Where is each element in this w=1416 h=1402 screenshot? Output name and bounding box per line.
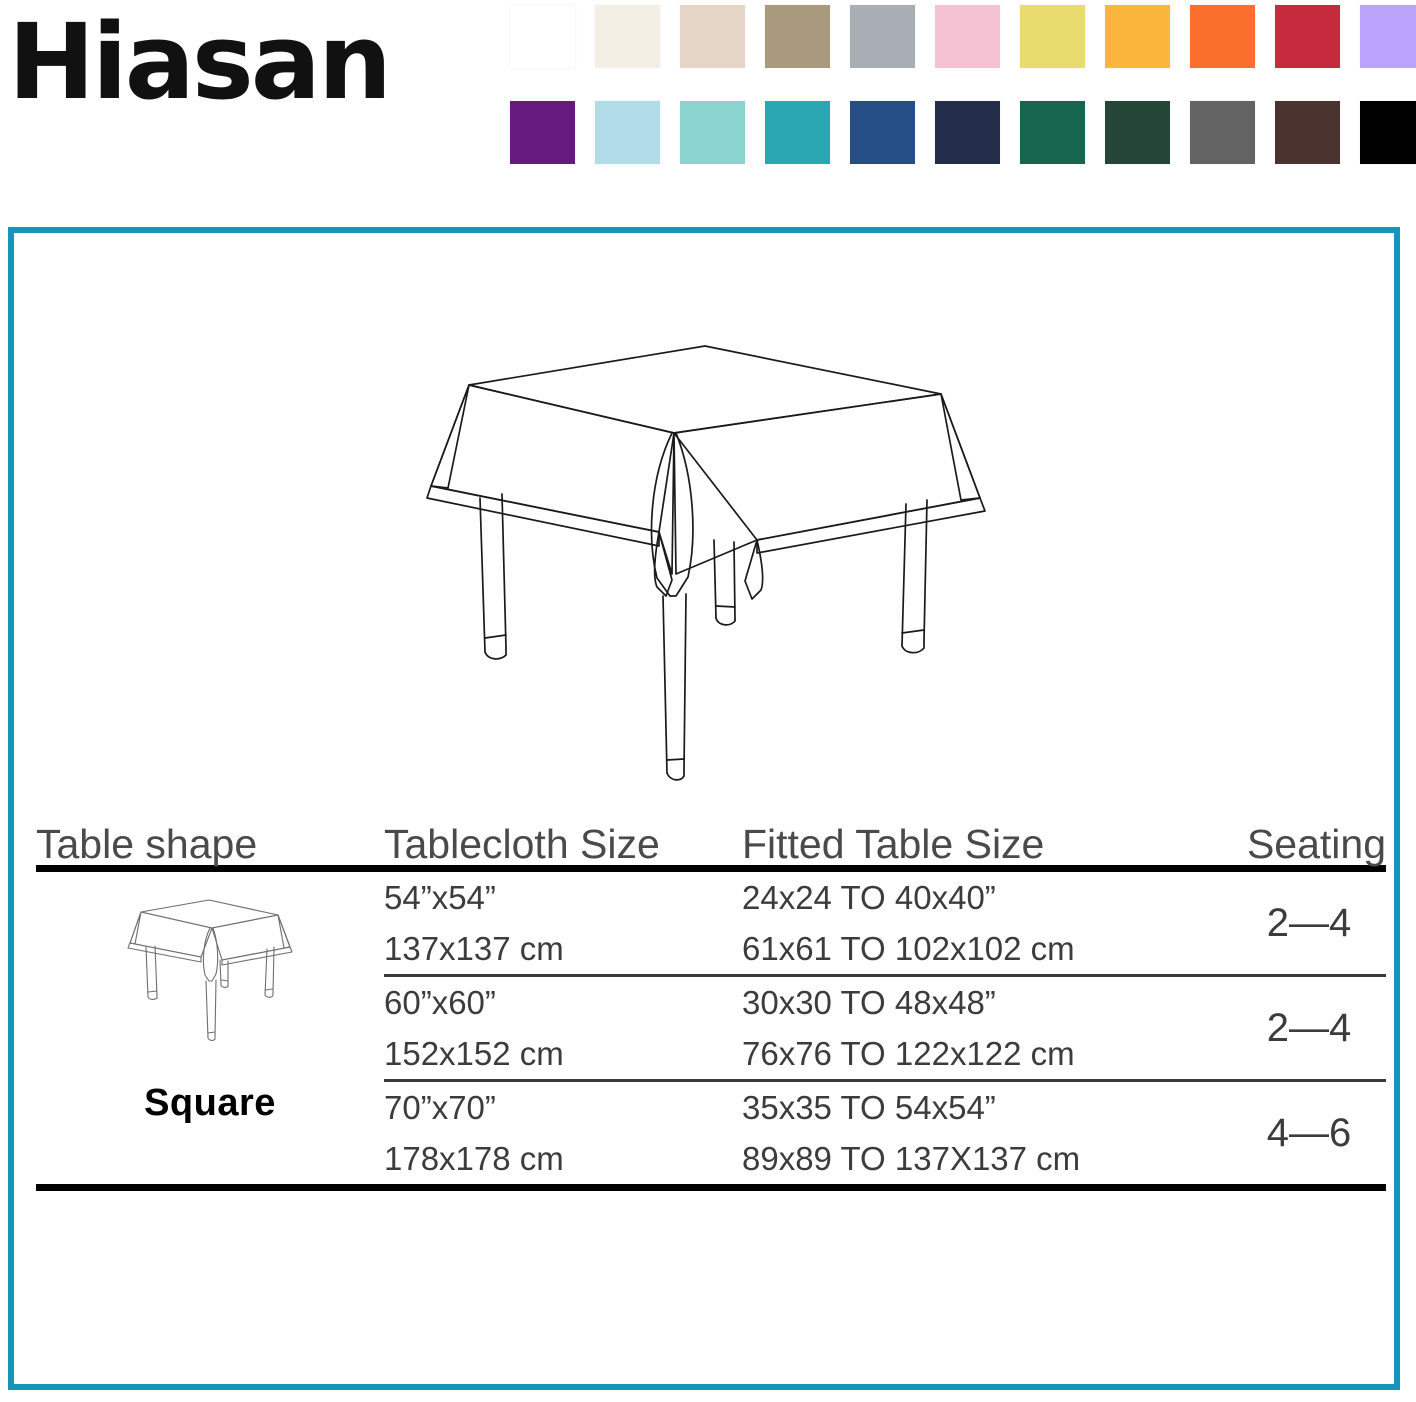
color-swatch-navy[interactable] [935,101,1000,164]
color-swatch-taupe[interactable] [765,5,830,68]
table-row: 54”x54”137x137 cm24x24 TO 40x40”61x61 TO… [384,872,1386,974]
color-swatch-teal[interactable] [765,101,830,164]
color-swatch-charcoal[interactable] [1190,101,1255,164]
table-bottom-rule [36,1184,1386,1191]
color-swatch-black[interactable] [1360,101,1416,164]
cell-fitted-table-size-line-1: 24x24 TO 40x40” [742,872,1232,923]
cell-fitted-table-size-line-2: 89x89 TO 137X137 cm [742,1133,1232,1184]
color-swatch-ivory[interactable] [595,5,660,68]
color-swatch-aqua[interactable] [680,101,745,164]
cell-tablecloth-size-line-1: 54”x54” [384,872,742,923]
color-swatch-purple[interactable] [510,101,575,164]
cell-tablecloth-size: 70”x70”178x178 cm [384,1082,742,1184]
square-table-illustration [414,328,994,798]
color-swatch-dark-brown[interactable] [1275,101,1340,164]
cell-seating: 2—4 [1232,977,1386,1079]
swatch-row-1 [510,5,1410,68]
color-swatch-grey[interactable] [850,5,915,68]
content-frame: Table shape Tablecloth Size Fitted Table… [8,227,1400,1390]
seating-value: 2—4 [1232,872,1386,974]
color-swatch-grid [510,5,1410,197]
color-swatch-forest-green[interactable] [1105,101,1170,164]
column-header-table-shape: Table shape [36,824,384,865]
color-swatch-red[interactable] [1275,5,1340,68]
color-swatch-steel-blue[interactable] [850,101,915,164]
table-row: 70”x70”178x178 cm35x35 TO 54x54”89x89 TO… [384,1082,1386,1184]
color-swatch-orange[interactable] [1190,5,1255,68]
table-header-row: Table shape Tablecloth Size Fitted Table… [36,803,1386,865]
color-swatch-pink[interactable] [935,5,1000,68]
color-swatch-white[interactable] [510,5,575,68]
cell-tablecloth-size-line-2: 137x137 cm [384,923,742,974]
table-shape-caption: Square [144,1082,276,1125]
color-swatch-light-blue[interactable] [595,101,660,164]
table-body: 54”x54”137x137 cm24x24 TO 40x40”61x61 TO… [384,872,1386,1184]
brand-logo: Hiasan [8,10,389,114]
cell-fitted-table-size-line-1: 35x35 TO 54x54” [742,1082,1232,1133]
cell-seating: 4—6 [1232,1082,1386,1184]
cell-tablecloth-size-line-1: 70”x70” [384,1082,742,1133]
specification-table: Table shape Tablecloth Size Fitted Table… [36,803,1386,1191]
cell-fitted-table-size-line-2: 76x76 TO 122x122 cm [742,1028,1232,1079]
cell-fitted-table-size: 24x24 TO 40x40”61x61 TO 102x102 cm [742,872,1232,974]
cell-fitted-table-size-line-1: 30x30 TO 48x48” [742,977,1232,1028]
cell-fitted-table-size-line-2: 61x61 TO 102x102 cm [742,923,1232,974]
seating-value: 4—6 [1232,1082,1386,1184]
color-swatch-golden-amber[interactable] [1105,5,1170,68]
cell-tablecloth-size: 54”x54”137x137 cm [384,872,742,974]
cell-tablecloth-size-line-1: 60”x60” [384,977,742,1028]
swatch-row-2 [510,101,1410,164]
column-header-seating: Seating [1232,824,1386,865]
color-swatch-beige[interactable] [680,5,745,68]
cell-tablecloth-size-line-2: 152x152 cm [384,1028,742,1079]
seating-value: 2—4 [1232,977,1386,1079]
cell-seating: 2—4 [1232,872,1386,974]
cell-tablecloth-size: 60”x60”152x152 cm [384,977,742,1079]
cell-fitted-table-size: 30x30 TO 48x48”76x76 TO 122x122 cm [742,977,1232,1079]
color-swatch-emerald-green[interactable] [1020,101,1085,164]
color-swatch-lavender[interactable] [1360,5,1416,68]
column-header-tablecloth-size: Tablecloth Size [384,824,742,865]
table-shape-cell: Square [36,872,384,1184]
header-band: Hiasan [0,0,1416,227]
color-swatch-yellow[interactable] [1020,5,1085,68]
cell-fitted-table-size: 35x35 TO 54x54”89x89 TO 137X137 cm [742,1082,1232,1184]
table-row: 60”x60”152x152 cm30x30 TO 48x48”76x76 TO… [384,977,1386,1079]
square-table-thumbnail [108,890,313,1068]
cell-tablecloth-size-line-2: 178x178 cm [384,1133,742,1184]
column-header-fitted-table-size: Fitted Table Size [742,824,1232,865]
